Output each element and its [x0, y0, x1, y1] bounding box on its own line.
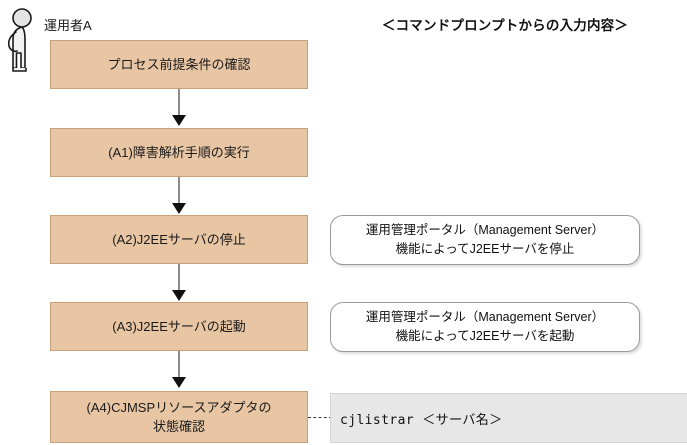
callout-label-line2: 機能によってJ2EEサーバを停止 — [396, 242, 575, 256]
process-box-label-line1: (A4)CJMSPリソースアダプタの — [87, 400, 272, 415]
process-box-label-line2: 状態確認 — [153, 419, 205, 434]
connector-line-2 — [178, 177, 180, 205]
arrowhead-3 — [172, 290, 186, 301]
callout-a2: 運用管理ポータル（Management Server） 機能によってJ2EEサー… — [330, 215, 640, 265]
process-box-label: プロセス前提条件の確認 — [57, 55, 301, 74]
arrowhead-2 — [172, 203, 186, 214]
process-box-label: (A3)J2EEサーバの起動 — [57, 317, 301, 336]
process-box-precondition[interactable]: プロセス前提条件の確認 — [50, 40, 308, 89]
command-text: cjlistrar ＜サーバ名＞ — [340, 409, 503, 428]
process-box-label: (A1)障害解析手順の実行 — [57, 143, 301, 162]
process-box-a1[interactable]: (A1)障害解析手順の実行 — [50, 128, 308, 177]
person-standing-icon — [2, 8, 42, 80]
flowchart-canvas: 運用者A ＜コマンドプロンプトからの入力内容＞ プロセス前提条件の確認 (A1)… — [0, 0, 687, 445]
process-box-a3[interactable]: (A3)J2EEサーバの起動 — [50, 302, 308, 351]
callout-a3: 運用管理ポータル（Management Server） 機能によってJ2EEサー… — [330, 302, 640, 352]
column-header-command-input: ＜コマンドプロンプトからの入力内容＞ — [340, 17, 670, 35]
callout-label-line1: 運用管理ポータル（Management Server） — [366, 223, 604, 237]
connector-line-1 — [178, 89, 180, 117]
arrowhead-1 — [172, 115, 186, 126]
process-box-label: (A2)J2EEサーバの停止 — [57, 230, 301, 249]
process-box-a2[interactable]: (A2)J2EEサーバの停止 — [50, 215, 308, 264]
actor-label: 運用者A — [44, 18, 92, 34]
command-input-box[interactable]: cjlistrar ＜サーバ名＞ — [330, 393, 687, 443]
connector-line-4 — [178, 351, 180, 379]
dashed-leader-line — [308, 417, 332, 418]
callout-label-line2: 機能によってJ2EEサーバを起動 — [396, 329, 575, 343]
connector-line-3 — [178, 264, 180, 292]
callout-label-line1: 運用管理ポータル（Management Server） — [366, 310, 604, 324]
process-box-a4[interactable]: (A4)CJMSPリソースアダプタの 状態確認 — [50, 391, 308, 443]
arrowhead-4 — [172, 377, 186, 388]
